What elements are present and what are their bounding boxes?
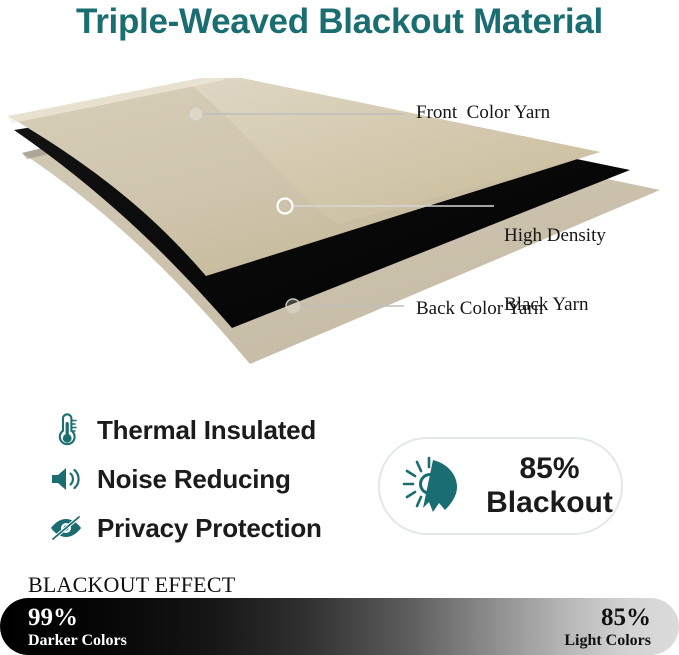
- callout-label-back-color-yarn: Back Color Yarn: [416, 297, 543, 320]
- effect-darker-colors: 99% Darker Colors: [28, 605, 127, 650]
- blackout-effect-gradient-bar: 99% Darker Colors 85% Light Colors: [0, 598, 679, 655]
- blackout-label: Blackout: [486, 486, 613, 519]
- thermometer-icon: [46, 410, 86, 450]
- blackout-effect-heading: BLACKOUT EFFECT: [28, 572, 235, 598]
- feature-label: Privacy Protection: [97, 513, 322, 544]
- effect-light-colors: 85% Light Colors: [564, 605, 651, 650]
- effect-right-percent: 85%: [564, 605, 651, 630]
- page-title: Triple-Weaved Blackout Material: [0, 0, 679, 44]
- effect-left-percent: 99%: [28, 605, 127, 630]
- sun-behind-curtain-icon: [396, 451, 468, 521]
- blackout-badge: 85% Blackout: [378, 437, 623, 535]
- callout-label-front-color-yarn: Front Color Yarn: [416, 101, 550, 124]
- feature-label: Noise Reducing: [97, 464, 291, 495]
- feature-item-noise-reducing: Noise Reducing: [46, 457, 366, 501]
- blackout-badge-text: 85% Blackout: [478, 452, 621, 520]
- feature-item-privacy-protection: Privacy Protection: [46, 506, 366, 550]
- effect-right-label: Light Colors: [564, 631, 651, 650]
- blackout-percent: 85%: [519, 452, 579, 485]
- feature-label: Thermal Insulated: [97, 415, 316, 446]
- effect-left-label: Darker Colors: [28, 631, 127, 650]
- feature-item-thermal-insulated: Thermal Insulated: [46, 408, 366, 452]
- feature-list: Thermal Insulated Noise Reducing Privacy…: [46, 408, 366, 555]
- speaker-icon: [46, 459, 86, 499]
- eye-off-icon: [46, 508, 86, 548]
- callout-line-1: High Density: [504, 224, 606, 247]
